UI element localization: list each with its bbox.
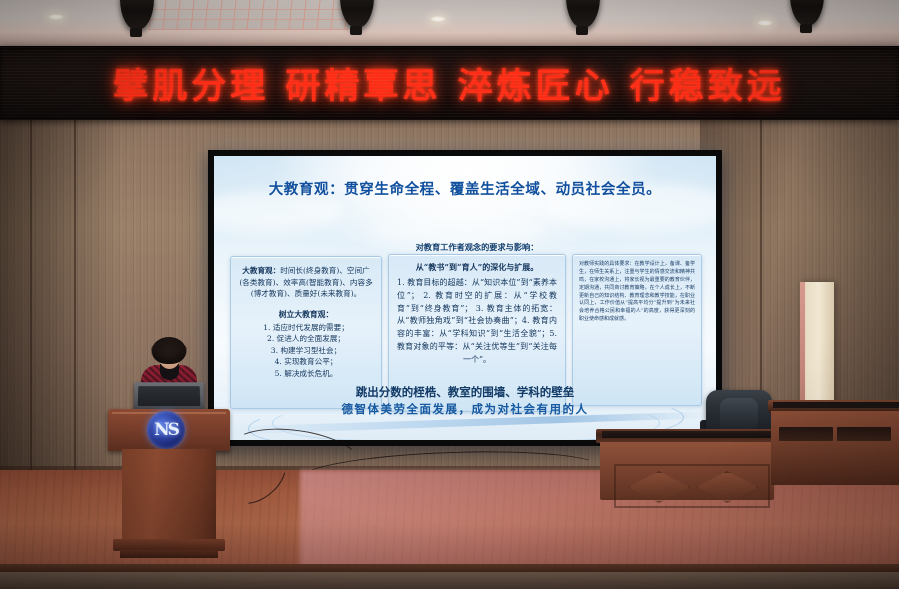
podium-column	[122, 449, 216, 541]
presenter-hair-highlight	[151, 341, 187, 358]
ceiling-downlight	[757, 20, 773, 26]
left-box-item: 2. 促进人的全面发展；	[238, 333, 374, 345]
front-desk	[596, 429, 778, 504]
side-desk-shelf	[779, 427, 833, 441]
ceiling-grille	[148, 0, 351, 30]
presenter-laptop	[134, 382, 205, 412]
middle-box-body: 1. 教育目标的超越：从“知识本位”到“素养本位”； 2. 教育时空的扩展：从“…	[397, 277, 557, 367]
left-box-item: 3. 构建学习型社会；	[238, 345, 374, 357]
presentation-slide: 大教育观：贯穿生命全程、覆盖生活全域、动员社会全员。 对教育工作者观念的要求与影…	[214, 156, 716, 440]
stage-base-trim	[0, 572, 899, 589]
front-desk-moulding	[614, 464, 770, 508]
desk-diamond-inlay	[628, 471, 690, 503]
slide-footer-line1: 跳出分数的桎梏、教室的围墙、学科的壁垒	[214, 384, 716, 400]
ceiling	[0, 0, 899, 52]
side-desk-shelf	[837, 427, 891, 441]
podium-plinth	[120, 550, 218, 558]
front-desk-panel	[600, 442, 774, 500]
auditorium-photo: 擘肌分理 研精覃思 淬炼匠心 行稳致远 大教育观：贯穿生命全程、覆盖生活全域、动…	[0, 0, 899, 589]
left-box-item: 5. 解决成长危机。	[238, 368, 374, 380]
left-box-definition: 大教育观：时间长(终身教育)、空间广(各类教育)、效率高(智能教育)、内容多(博…	[238, 265, 374, 300]
podium-emblem-text: NS	[154, 420, 178, 440]
podium-emblem-icon: NS	[147, 411, 185, 449]
right-box-body: 对教师实践的具体要求：在教学设计上，备课、备学生，在师生关系上，注重与学生的情感…	[579, 261, 695, 324]
left-box-item: 4. 实现教育公平；	[238, 356, 374, 368]
wall-accent-panel	[800, 282, 834, 410]
speaking-podium: NS	[108, 409, 230, 559]
projection-screen: 大教育观：贯穿生命全程、覆盖生活全域、动员社会全员。 对教育工作者观念的要求与影…	[208, 150, 722, 446]
led-banner-text: 擘肌分理 研精覃思 淬炼匠心 行稳致远	[113, 58, 786, 109]
middle-box-lead: 从“教书”到“育人”的深化与扩展。	[397, 262, 557, 273]
ceiling-downlight	[430, 16, 446, 22]
left-box-definition-label: 大教育观：	[242, 266, 280, 275]
slide-middle-header: 对教育工作者观念的要求与影响：	[392, 241, 562, 253]
ceiling-speaker	[566, 0, 600, 28]
left-box-list-heading: 树立大教育观：	[238, 309, 374, 320]
led-banner: 擘肌分理 研精覃思 淬炼匠心 行稳致远	[0, 46, 899, 120]
ceiling-downlight	[48, 14, 64, 20]
front-desk-top	[596, 429, 778, 443]
slide-footer-line2: 德智体美劳全面发展，成为对社会有用的人	[214, 401, 716, 417]
slide-title: 大教育观：贯穿生命全程、覆盖生活全域、动员社会全员。	[214, 178, 716, 199]
left-box-item: 1. 适应时代发展的需要；	[238, 322, 374, 334]
side-desk-panel	[771, 411, 899, 485]
ceiling-speaker	[790, 0, 824, 26]
desk-diamond-inlay	[696, 471, 758, 503]
side-desk	[768, 400, 899, 488]
